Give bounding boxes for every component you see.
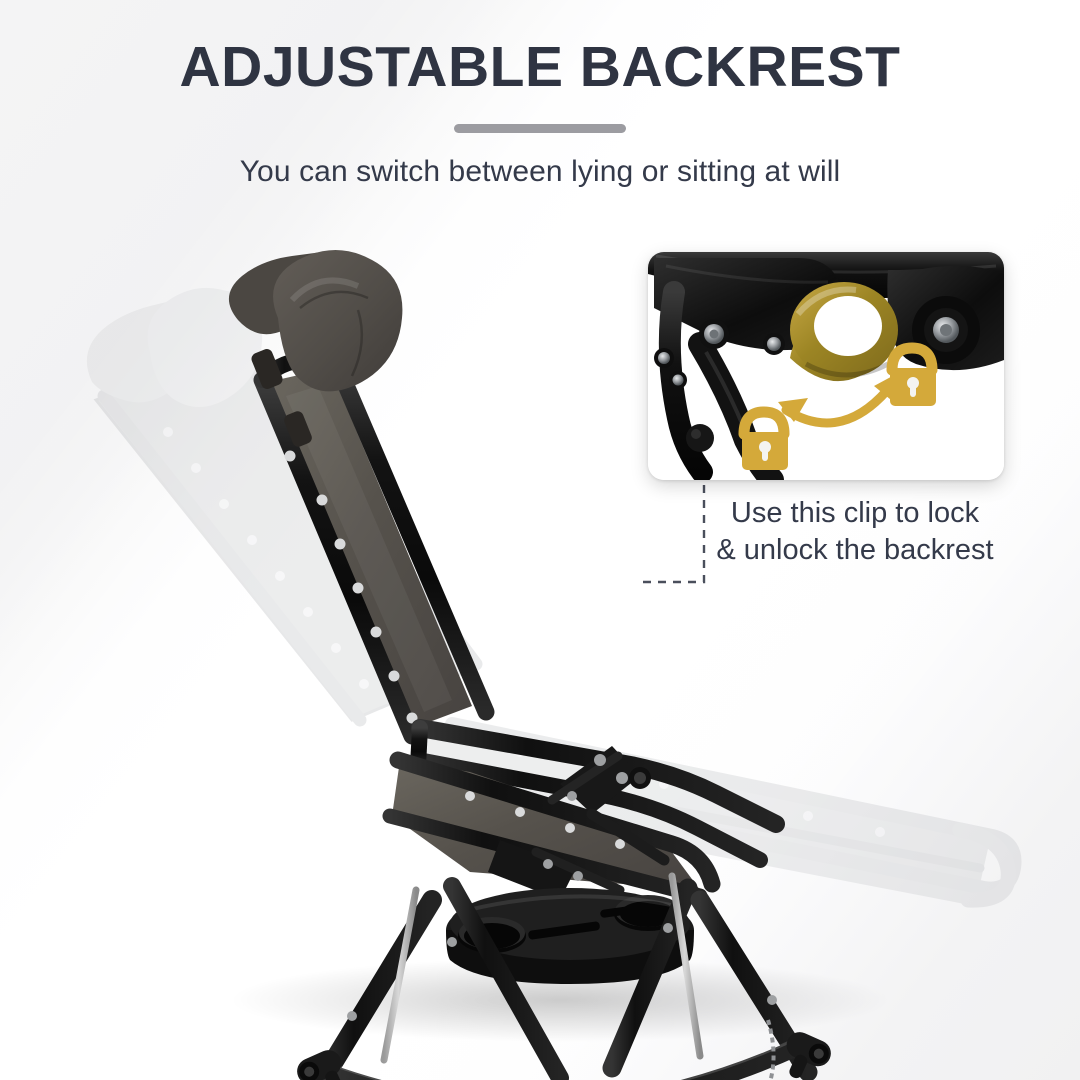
caption-line-2: & unlock the backrest (690, 532, 1020, 569)
backrest-clip (629, 767, 651, 789)
header: ADJUSTABLE BACKREST You can switch betwe… (0, 0, 1080, 189)
gold-clip-ring (790, 282, 898, 381)
callout-caption: Use this clip to lock & unlock the backr… (690, 495, 1020, 569)
page-subtitle: You can switch between lying or sitting … (0, 155, 1080, 189)
caption-line-1: Use this clip to lock (731, 497, 979, 529)
infographic-canvas: ADJUSTABLE BACKREST You can switch betwe… (0, 0, 1080, 1080)
clip-detail-inset (648, 252, 1004, 480)
divider-bar (454, 124, 626, 133)
page-title: ADJUSTABLE BACKREST (0, 0, 1080, 98)
